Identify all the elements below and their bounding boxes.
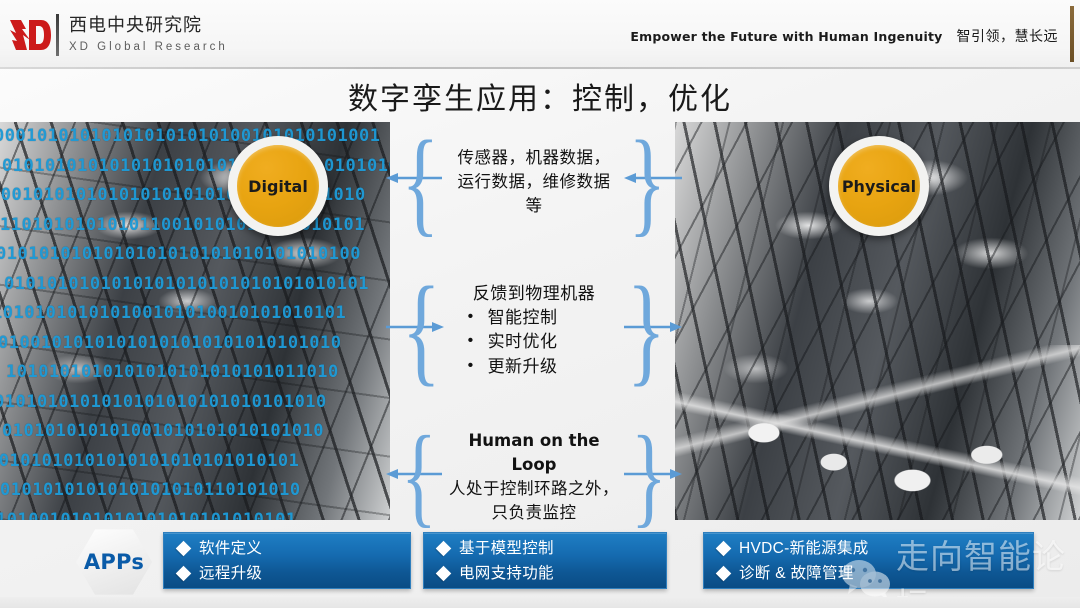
binary-row: 0101010101010101010101010101010101 [4,270,390,300]
digital-side-image: 0001010101010101010101001010101010010101… [0,122,390,520]
binary-row: 010101010101001010101010101010 [2,417,390,447]
apps-panel-item: 诊断 & 故障管理 [718,561,1033,586]
flow-row2-bullet: 智能控制 [466,306,617,331]
binary-row: 10010101010101010101010101010101010 [0,181,390,211]
diamond-bullet-icon [176,565,192,581]
binary-row: 0101010101010101010101010101010100 [0,240,390,270]
flow-row2-bullets: 智能控制 实时优化 更新升级 [452,306,617,380]
brace-left-row3: { [401,442,436,511]
org-name-cn: 西电中央研究院 [69,15,228,36]
binary-row: 0101010101010101010110101010 [0,476,390,506]
flow-row1-text: 传感器，机器数据，运行数据，维修数据等 [449,146,620,218]
flow-row2-bullet: 更新升级 [466,355,617,380]
xd-logo-icon [8,15,52,55]
binary-row: 0101010101010101010101010101010101010 [2,152,390,182]
brand-text: 西电中央研究院 XD Global Research [69,15,228,55]
page-title: 数字孪生应用：控制，优化 [0,74,1080,118]
binary-row: 000101010101010101010100101010101001 [0,122,390,152]
apps-panel-item: HVDC-新能源集成 [718,536,1033,561]
tagline-en: Empower the Future with Human Ingenuity [630,29,942,44]
brace-right-row3: } [631,442,666,511]
binary-row: 01001010101010101010101010101010 [0,329,390,359]
flow-row2-body: 反馈到物理机器 智能控制 实时优化 更新升级 [451,281,618,380]
apps-panel-item: 电网支持功能 [438,561,666,586]
brand-logo-block: 西电中央研究院 XD Global Research [8,14,228,56]
apps-label: APPs [84,550,144,574]
binary-row: 101010101010100101010010101010101 [0,299,390,329]
brace-left-row1: { [402,145,439,218]
header-rule [0,67,1080,69]
apps-item-label: HVDC-新能源集成 [739,536,869,561]
flow-row2-bullet: 实时优化 [466,330,617,355]
apps-panel-item: 软件定义 [178,536,410,561]
binary-row: 1101010101010110010101010101010101 [0,211,390,241]
slide-header: 西电中央研究院 XD Global Research Empower the F… [0,0,1080,68]
apps-panel-item: 基于模型控制 [438,536,666,561]
flow-column: { 传感器，机器数据，运行数据，维修数据等 } { 反馈到物理机器 智能控制 实… [392,122,676,520]
diamond-bullet-icon [176,540,192,556]
diamond-bullet-icon [436,540,452,556]
apps-item-label: 软件定义 [199,536,262,561]
binary-code-overlay: 0001010101010101010101001010101010010101… [0,122,390,520]
header-accent-bar [1070,6,1074,62]
flow-row3-body: Human on the Loop 人处于控制环路之外，只负责监控 [446,429,622,525]
diamond-bullet-icon [436,565,452,581]
brace-right-row1: } [629,145,666,218]
physical-badge: Physical [829,136,929,236]
apps-panel-item: 远程升级 [178,561,410,586]
slide-root: 西电中央研究院 XD Global Research Empower the F… [0,0,1080,608]
bottom-strip [0,597,1080,608]
flow-row-feedback: { 反馈到物理机器 智能控制 实时优化 更新升级 } [392,274,676,386]
flow-row-sensors: { 传感器，机器数据，运行数据，维修数据等 } [392,128,676,236]
binary-row: 0101010101010101010101010101010 [0,388,390,418]
flow-row2-heading: 反馈到物理机器 [452,281,617,306]
header-tagline: Empower the Future with Human Ingenuity … [630,26,1058,46]
apps-badge: APPs [76,528,152,596]
binary-row: 1010101010101010101010101011010 [6,358,390,388]
apps-item-label: 电网支持功能 [459,561,554,586]
brace-right-row2: } [627,292,666,368]
flow-row-human-on-the-loop: { Human on the Loop 人处于控制环路之外，只负责监控 } [392,424,676,530]
apps-panel-control[interactable]: 基于模型控制 电网支持功能 [423,532,667,589]
flow-row3-text: 人处于控制环路之外，只负责监控 [447,477,621,525]
apps-panel-hvdc[interactable]: HVDC-新能源集成 诊断 & 故障管理 [703,532,1034,589]
diamond-bullet-icon [716,540,732,556]
org-name-en: XD Global Research [69,39,228,55]
apps-item-label: 诊断 & 故障管理 [739,561,854,586]
apps-panel-software[interactable]: 软件定义 远程升级 [163,532,411,589]
brace-left-row2: { [402,292,441,368]
apps-item-label: 基于模型控制 [459,536,554,561]
flow-row3-heading-en: Human on the Loop [447,429,621,477]
logo-divider [56,14,59,56]
binary-row: 1010010101010101010101010101 [0,506,390,521]
insulator-string-detail [675,345,1080,520]
tagline-cn: 智引领，慧长远 [957,26,1059,46]
binary-row: 10101010101010101010101010101 [0,447,390,477]
digital-badge: Digital [228,136,328,236]
apps-item-label: 远程升级 [199,561,262,586]
diamond-bullet-icon [716,565,732,581]
